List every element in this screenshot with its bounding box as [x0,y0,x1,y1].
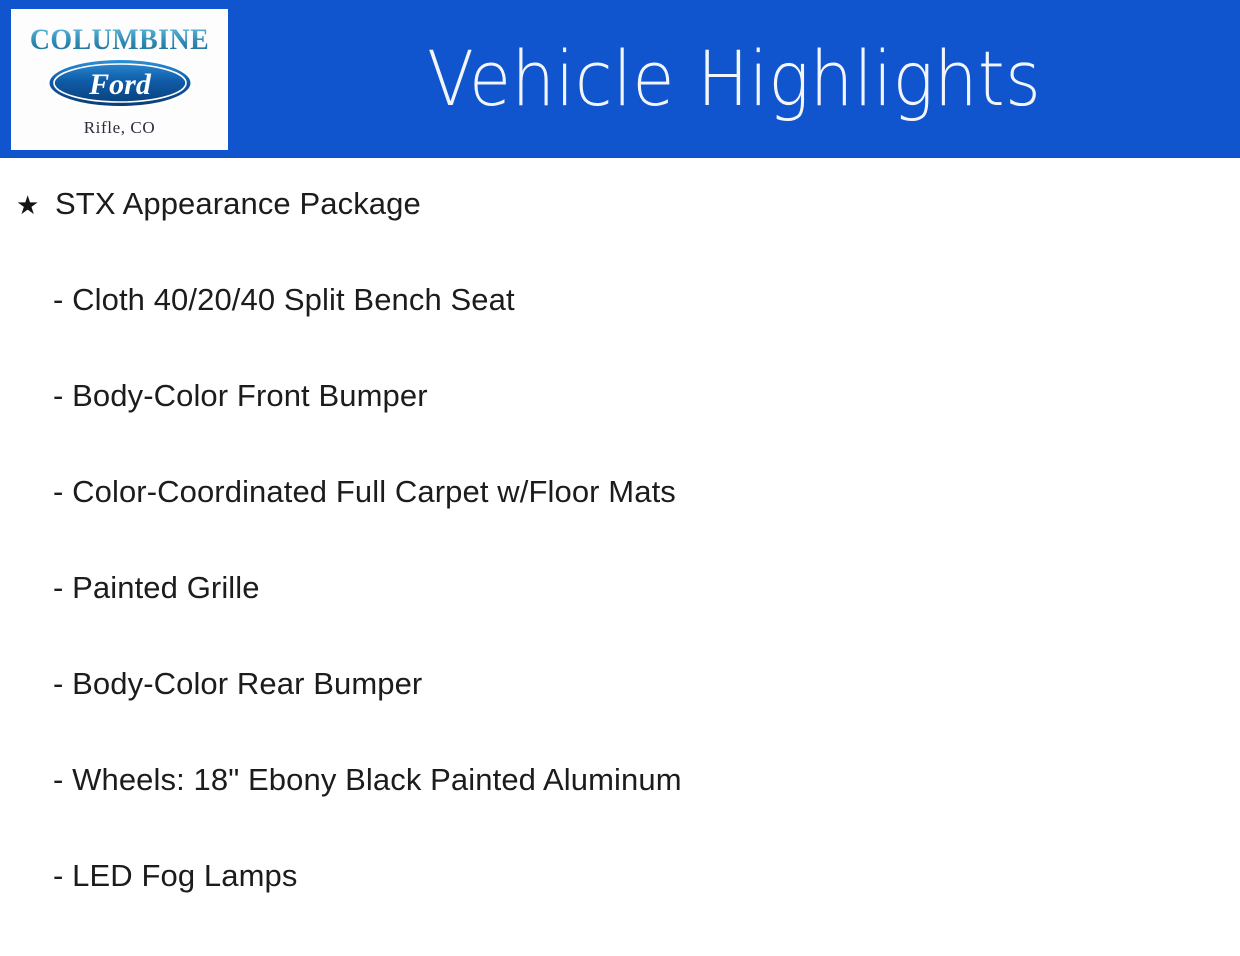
list-item: - Painted Grille [53,572,682,668]
list-item: - LED Fog Lamps [53,860,682,956]
list-item: - Wheels: 18" Ebony Black Painted Alumin… [53,764,682,860]
package-heading: ★ STX Appearance Package [16,188,421,219]
star-icon: ★ [16,193,55,219]
svg-text:Ford: Ford [88,68,152,101]
dealer-logo: COLUMBINE Ford Rifle, CO [11,9,228,150]
page-title: Vehicle Highlights [228,0,1240,158]
page-header: COLUMBINE Ford Rifle, CO Vehicle Highlig… [0,0,1240,158]
logo-brand-name: COLUMBINE [19,25,221,55]
list-item: - Body-Color Rear Bumper [53,668,682,764]
list-item: - Cloth 40/20/40 Split Bench Seat [53,284,682,380]
feature-list: - Cloth 40/20/40 Split Bench Seat - Body… [53,284,682,956]
ford-oval-icon: Ford [44,55,196,111]
page-title-text: Vehicle Highlights [427,41,1041,117]
list-item: - Body-Color Front Bumper [53,380,682,476]
highlights-content: ★ STX Appearance Package - Cloth 40/20/4… [0,158,1240,930]
list-item: - Color-Coordinated Full Carpet w/Floor … [53,476,682,572]
logo-location: Rifle, CO [11,118,228,138]
package-name: STX Appearance Package [55,188,421,219]
